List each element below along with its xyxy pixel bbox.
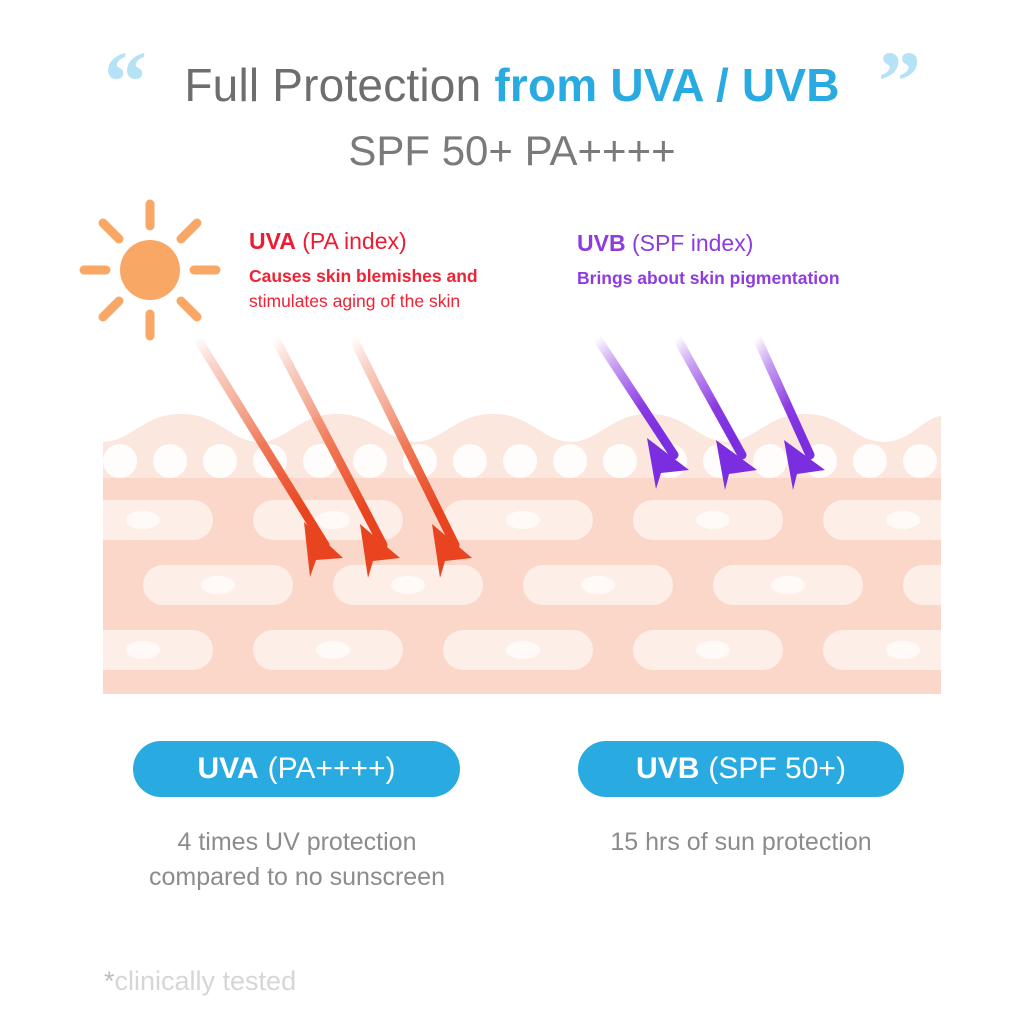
badge-uva-light: (PA++++): [268, 741, 396, 797]
uva-description-line-1: Causes skin blemishes and: [249, 264, 549, 289]
uvb-description-line-1: Brings about skin pigmentation: [577, 268, 840, 288]
sun-icon: [72, 196, 228, 344]
badge-uvb-strong: UVB: [636, 741, 699, 797]
uva-description: Causes skin blemishes and stimulates agi…: [249, 264, 549, 314]
uvb-heading: UVB (SPF index): [577, 228, 917, 258]
title-plain-text: Full Protection: [184, 59, 494, 111]
uva-heading-strong: UVA: [249, 228, 296, 254]
caption-uva: 4 times UV protection compared to no sun…: [106, 825, 488, 895]
uva-ray-arrow-group: [197, 338, 472, 578]
asterisk-icon: *: [104, 966, 115, 996]
caption-uva-line-1: 4 times UV protection: [106, 825, 488, 860]
caption-uva-line-2: compared to no sunscreen: [106, 860, 488, 895]
page-title-line-2: SPF 50+ PA++++: [0, 125, 1024, 177]
uvb-heading-strong: UVB: [577, 230, 626, 256]
badge-uvb[interactable]: UVB (SPF 50+): [578, 741, 904, 797]
uvb-info-block: UVB (SPF index) Brings about skin pigmen…: [577, 228, 917, 291]
uv-ray-arrows: [0, 330, 1024, 700]
badge-uva-strong: UVA: [198, 741, 259, 797]
badge-uvb-light: (SPF 50+): [708, 741, 846, 797]
infographic-canvas: “ ” Full Protection from UVA / UVB SPF 5…: [0, 0, 1024, 1024]
page-title-line-1: Full Protection from UVA / UVB: [0, 56, 1024, 114]
uvb-description: Brings about skin pigmentation: [577, 266, 917, 291]
uva-description-line-2: stimulates aging of the skin: [249, 289, 549, 314]
uva-heading-light: (PA index): [296, 228, 407, 254]
footnote-clinically-tested: *clinically tested: [104, 962, 296, 1000]
uva-heading: UVA (PA index): [249, 226, 549, 256]
uva-info-block: UVA (PA index) Causes skin blemishes and…: [249, 226, 549, 314]
title-accent-text: from UVA / UVB: [494, 59, 839, 111]
uvb-heading-light: (SPF index): [626, 230, 754, 256]
footnote-text: clinically tested: [115, 966, 297, 996]
caption-uvb: 15 hrs of sun protection: [560, 825, 922, 860]
uvb-ray-arrow-group: [597, 338, 825, 490]
caption-uvb-line-1: 15 hrs of sun protection: [560, 825, 922, 860]
badge-uva[interactable]: UVA (PA++++): [133, 741, 460, 797]
